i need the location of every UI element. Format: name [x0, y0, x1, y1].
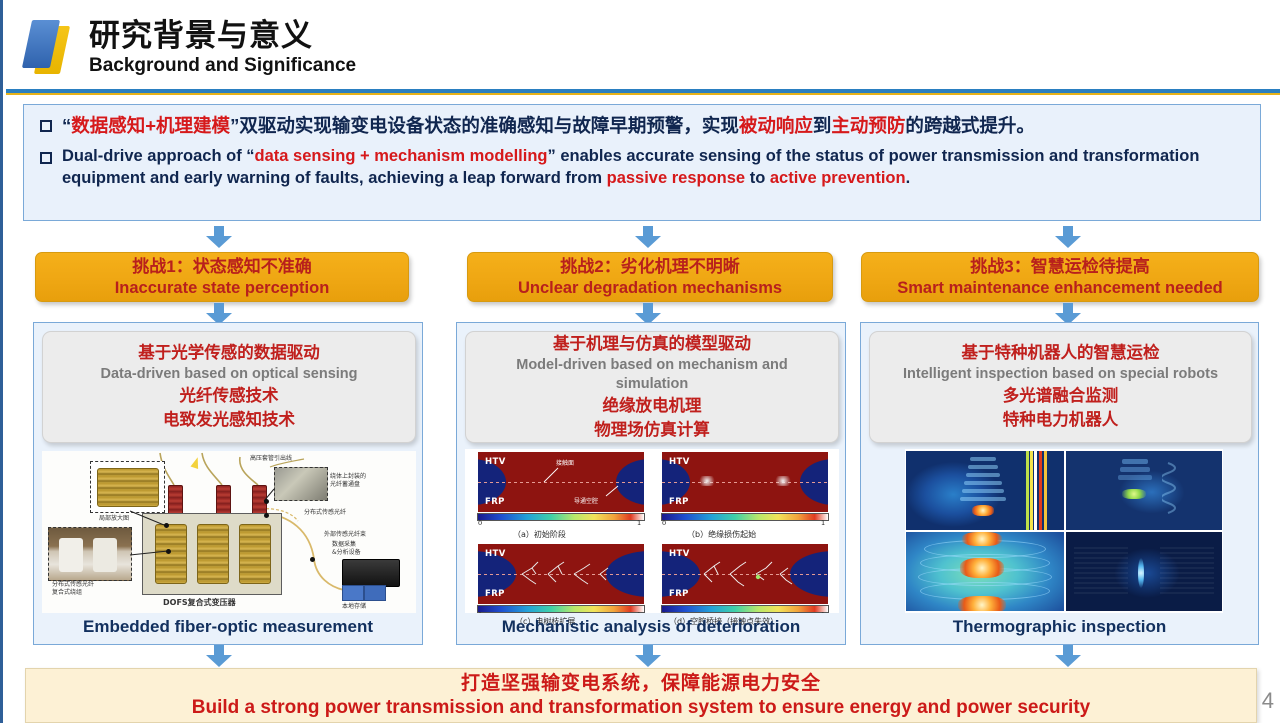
banner-cn-highlight-1: 数据感知+机理建模 — [71, 115, 230, 136]
thermal-image-insulator — [906, 532, 1064, 611]
page-title-en: Background and Significance — [89, 55, 356, 77]
arrow-head — [635, 236, 661, 248]
arrow-head — [1055, 236, 1081, 248]
square-bullet-icon — [40, 120, 52, 132]
panel-3-caption: Thermographic inspection — [861, 617, 1258, 637]
panel-1-tech-1: 光纤传感技术 — [180, 384, 279, 408]
banner-cn-highlight-2: 被动响应 — [739, 115, 813, 136]
label-local-storage: 本地存储 — [342, 601, 366, 610]
panel-optical-sensing: 基于光学传感的数据驱动 Data-driven based on optical… — [33, 322, 423, 645]
square-bullet-icon-2 — [40, 152, 52, 164]
panel-1-caption: Embedded fiber-optic measurement — [34, 617, 422, 637]
panel-2-title-en: Model-driven based on mechanism and simu… — [487, 356, 817, 394]
panel-2-caption: Mechanistic analysis of deterioration — [457, 617, 845, 637]
banner-en-highlight-2: passive response — [607, 169, 746, 187]
sim-a-cbar-min: 0 — [478, 519, 482, 527]
banner-bullet-line-cn: “数据感知+机理建模”双驱动实现输变电设备状态的准确感知与故障早期预警，实现被动… — [38, 113, 1246, 139]
panel-3-tech-2: 特种电力机器人 — [1003, 408, 1119, 432]
sim-b-cbar-min: 0 — [662, 519, 666, 527]
panel-robotic-inspection: 基于特种机器人的智慧运检 Intelligent inspection base… — [860, 322, 1259, 645]
arrow-panel-2-to-bottom — [635, 645, 661, 667]
sim-b-cbar-max: 1 — [821, 519, 825, 527]
arrow-banner-to-challenge-3 — [1055, 226, 1081, 248]
sim-b-colorbar — [661, 513, 829, 521]
sim-tile-b: HTV FRP — [661, 451, 829, 513]
thermal-image-discharge — [1066, 532, 1222, 611]
thermal-hotspot-1 — [972, 505, 994, 516]
brand-logo-icon — [25, 18, 81, 76]
sim-tile-c: HTV FRP — [477, 543, 645, 605]
arrow-panel-1-to-bottom — [206, 645, 232, 667]
leader-dot-2 — [166, 549, 171, 554]
panel-3-figure-thermal-grid — [905, 449, 1223, 613]
conclusion-text-en: Build a strong power transmission and tr… — [192, 696, 1090, 720]
banner-cn-quote-open: “ — [62, 115, 71, 136]
sim-b-damage-left — [698, 476, 716, 486]
page-number: 4 — [1262, 688, 1274, 714]
sim-b-label-htv: HTV — [669, 457, 690, 467]
panel-1-title-cn: 基于光学传感的数据驱动 — [138, 342, 320, 365]
slide-header: 研究背景与意义 Background and Significance — [3, 0, 1280, 92]
leader-dot-4 — [264, 513, 269, 518]
challenge-header-2: 挑战2：劣化机理不明晰 Unclear degradation mechanis… — [467, 252, 833, 302]
banner-en-quote-close: ” — [548, 147, 556, 165]
banner-bullet-line-en: Dual-drive approach of “data sensing + m… — [38, 145, 1246, 189]
panel-2-title-cn: 基于机理与仿真的模型驱动 — [553, 333, 751, 356]
sim-d-cbar-max: 1 — [821, 611, 825, 613]
leader-dot-1 — [164, 523, 169, 528]
challenge-3-en: Smart maintenance enhancement needed — [897, 278, 1223, 298]
sim-b-interface-line — [662, 482, 828, 483]
analysis-device — [342, 559, 400, 587]
panel-2-header-card: 基于机理与仿真的模型驱动 Model-driven based on mecha… — [465, 331, 839, 443]
challenge-1-cn: 挑战1：状态感知不准确 — [132, 256, 311, 278]
sim-b-caption: （b）绝缘损伤起始 — [687, 529, 756, 540]
sim-c-electrical-tree — [478, 544, 644, 604]
sim-tile-d: HTV FRP — [661, 543, 829, 605]
panel-3-title-cn: 基于特种机器人的智慧运检 — [962, 342, 1160, 365]
banner-en-quote-open: “ — [246, 147, 254, 165]
thermal-hotspot-5 — [958, 596, 1006, 611]
sim-tile-a: HTV FRP 接触面 导通空腔 — [477, 451, 645, 513]
panel-1-header-card: 基于光学传感的数据驱动 Data-driven based on optical… — [42, 331, 416, 443]
sim-d-bridging-tree — [662, 544, 828, 604]
arrow-head — [1055, 655, 1081, 667]
thermal-hotspot-4 — [960, 558, 1004, 578]
challenge-header-3: 挑战3：智慧运检待提高 Smart maintenance enhancemen… — [861, 252, 1259, 302]
panel-1-tech-2: 电致发光感知技术 — [163, 408, 295, 432]
sim-a-annot-arrows — [478, 452, 644, 512]
panel-3-title-en: Intelligent inspection based on special … — [903, 365, 1218, 384]
banner-en-seg-4: . — [906, 169, 911, 187]
banner-text-cn: “数据感知+机理建模”双驱动实现输变电设备状态的准确感知与故障早期预警，实现被动… — [62, 113, 1035, 139]
conclusion-text-cn: 打造坚强输变电系统，保障能源电力安全 — [461, 671, 821, 696]
sim-a-colorbar — [477, 513, 645, 521]
arrow-head — [206, 655, 232, 667]
thermal-hotspot-2 — [1122, 489, 1146, 499]
banner-en-seg-3: to — [745, 169, 770, 187]
panel-3-tech-1: 多光谱融合监测 — [1003, 384, 1119, 408]
panel-3-header-card: 基于特种机器人的智慧运检 Intelligent inspection base… — [869, 331, 1252, 443]
banner-en-highlight-3: active prevention — [770, 169, 906, 187]
challenge-2-cn: 挑战2：劣化机理不明晰 — [560, 256, 739, 278]
banner-cn-seg-3: 到 — [813, 115, 832, 136]
sim-a-cbar-max: 1 — [637, 519, 641, 527]
header-divider-gold — [6, 93, 1280, 95]
panel-1-title-en: Data-driven based on optical sensing — [100, 365, 357, 384]
arrow-head — [206, 236, 232, 248]
sim-b-label-frp: FRP — [669, 497, 689, 507]
sim-a-caption: （a）初始阶段 — [513, 529, 566, 540]
challenge-header-1: 挑战1：状态感知不准确 Inaccurate state perception — [35, 252, 409, 302]
panel-2-tech-2: 物理场仿真计算 — [594, 418, 710, 442]
challenge-2-en: Unclear degradation mechanisms — [518, 278, 782, 298]
sim-c-cbar-max: 1 — [637, 611, 641, 613]
challenge-3-cn: 挑战3：智慧运检待提高 — [970, 256, 1149, 278]
banner-cn-seg-2: ”双驱动实现输变电设备状态的准确感知与故障早期预警，实现 — [230, 115, 739, 136]
banner-cn-seg-4: 的跨越式提升。 — [905, 115, 1035, 136]
banner-en-highlight-1: data sensing + mechanism modelling — [255, 147, 548, 165]
challenge-1-en: Inaccurate state perception — [115, 278, 330, 298]
sim-b-damage-right — [774, 476, 792, 486]
panel-mechanism-simulation: 基于机理与仿真的模型驱动 Model-driven based on mecha… — [456, 322, 846, 645]
arrow-panel-3-to-bottom — [1055, 645, 1081, 667]
summary-banner: “数据感知+机理建模”双驱动实现输变电设备状态的准确感知与故障早期预警，实现被动… — [23, 104, 1261, 221]
sim-d-cbar-min: 0 — [662, 611, 666, 613]
panel-1-figure-transformer-dofs: 局部放大图 高压套管引出线 绕体上封装的光纤蓄通盘 分布式传感光纤 外部传感光纤… — [42, 451, 416, 613]
storage-unit-1 — [342, 585, 364, 601]
slide-root: 研究背景与意义 Background and Significance “数据感… — [0, 0, 1280, 723]
banner-text-en: Dual-drive approach of “data sensing + m… — [62, 145, 1246, 189]
arrow-banner-to-challenge-1 — [206, 226, 232, 248]
conclusion-banner: 打造坚强输变电系统，保障能源电力安全 Build a strong power … — [25, 668, 1257, 723]
sim-c-cbar-min: 0 — [478, 611, 482, 613]
sim-c-colorbar — [477, 605, 645, 613]
arrow-banner-to-challenge-2 — [635, 226, 661, 248]
panel-2-figure-simulation-grid: HTV FRP 接触面 导通空腔 0 1 （a）初始阶段 HTV FRP — [465, 449, 839, 613]
discharge-glow — [1138, 558, 1144, 588]
page-title-cn: 研究背景与意义 — [89, 18, 313, 54]
storage-unit-2 — [364, 585, 386, 601]
sim-d-colorbar — [661, 605, 829, 613]
leader-dot-5 — [310, 557, 315, 562]
banner-en-seg-1: Dual-drive approach of — [62, 147, 246, 165]
panel-2-tech-1: 绝缘放电机理 — [603, 394, 702, 418]
thermal-image-equipment — [1066, 451, 1222, 530]
banner-cn-highlight-3: 主动预防 — [831, 115, 905, 136]
arrow-head — [635, 655, 661, 667]
thermal-hotspot-3 — [962, 532, 1002, 546]
thermal-image-tower — [906, 451, 1064, 530]
leader-dot-3 — [264, 499, 269, 504]
